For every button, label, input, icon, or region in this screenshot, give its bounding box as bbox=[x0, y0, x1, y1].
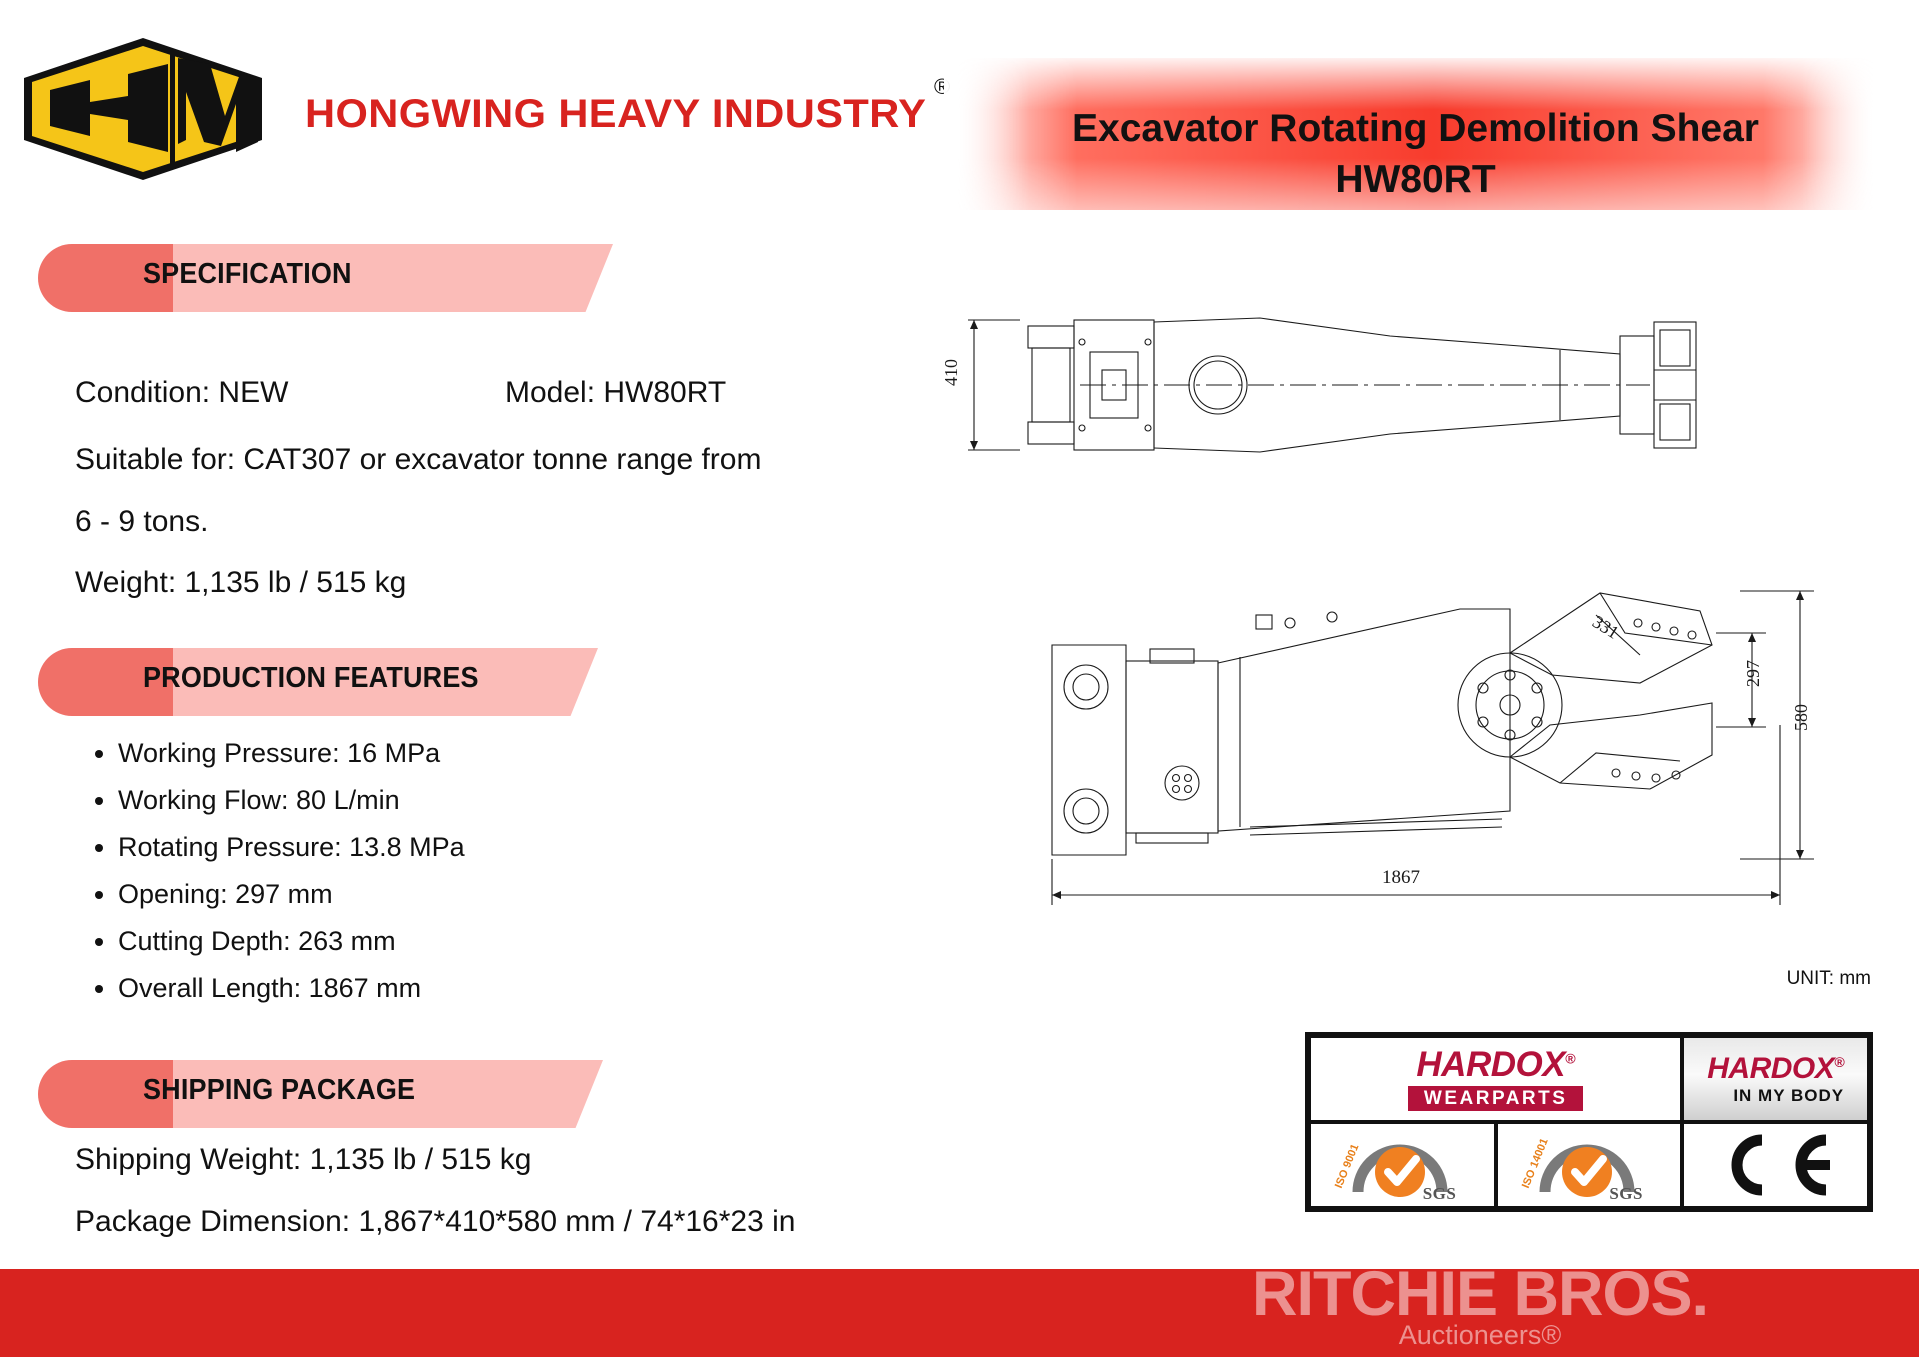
watermark-main: RITCHIE BROS. bbox=[1200, 1265, 1760, 1325]
registered-trademark-icon: ® bbox=[934, 74, 950, 100]
unit-note: UNIT: mm bbox=[1787, 968, 1871, 990]
certification-badge-grid: HARDOX® WEARPARTS HARDOX® IN MY BODY I bbox=[1305, 1032, 1873, 1212]
sgs-label: SGS bbox=[1609, 1184, 1643, 1204]
dimension-label-580: 580 bbox=[1791, 704, 1812, 731]
hardox-wearparts-badge: HARDOX® WEARPARTS bbox=[1309, 1036, 1682, 1122]
specification-heading: SPECIFICATION bbox=[143, 258, 352, 291]
company-name: HONGWING HEAVY INDUSTRY bbox=[305, 92, 926, 137]
ce-mark-badge bbox=[1682, 1122, 1869, 1208]
product-spec-sheet: HONGWING HEAVY INDUSTRY ® Excavator Rota… bbox=[0, 0, 1919, 1357]
hardox-wearparts-wordmark: HARDOX® bbox=[1416, 1047, 1575, 1082]
production-features-list: Working Pressure: 16 MPa Working Flow: 8… bbox=[90, 730, 465, 1012]
spec-condition: Condition: NEW bbox=[75, 376, 288, 410]
ritchie-bros-watermark: RITCHIE BROS. Auctioneers® bbox=[1200, 1265, 1760, 1351]
product-title: Excavator Rotating Demolition Shear HW80… bbox=[958, 104, 1873, 205]
technical-drawing-side-view: 331 297 580 1867 bbox=[1040, 575, 1840, 935]
list-item: Working Pressure: 16 MPa bbox=[118, 730, 465, 777]
ce-mark-icon bbox=[1714, 1134, 1838, 1196]
production-features-heading: PRODUCTION FEATURES bbox=[143, 662, 479, 695]
hardox-in-my-body-subtitle: IN MY BODY bbox=[1733, 1087, 1844, 1104]
technical-drawing-plan-view: 410 bbox=[960, 300, 1760, 470]
spec-suitable-line2: 6 - 9 tons. bbox=[75, 505, 208, 539]
list-item: Working Flow: 80 L/min bbox=[118, 777, 465, 824]
sgs-iso14001-badge: ISO 14001 SGS bbox=[1496, 1122, 1683, 1208]
product-title-line2: HW80RT bbox=[958, 155, 1873, 206]
list-item: Cutting Depth: 263 mm bbox=[118, 918, 465, 965]
list-item: Overall Length: 1867 mm bbox=[118, 965, 465, 1012]
shipping-weight: Shipping Weight: 1,135 lb / 515 kg bbox=[75, 1143, 531, 1177]
list-item: Opening: 297 mm bbox=[118, 871, 465, 918]
dimension-label-297: 297 bbox=[1743, 660, 1764, 687]
hardox-in-my-body-wordmark: HARDOX® bbox=[1707, 1054, 1844, 1084]
spec-weight: Weight: 1,135 lb / 515 kg bbox=[75, 566, 406, 600]
sgs-label: SGS bbox=[1423, 1184, 1457, 1204]
shipping-package-heading: SHIPPING PACKAGE bbox=[143, 1074, 415, 1107]
dimension-label-1867: 1867 bbox=[1382, 867, 1420, 889]
package-dimension: Package Dimension: 1,867*410*580 mm / 74… bbox=[75, 1205, 795, 1239]
spec-suitable-line1: Suitable for: CAT307 or excavator tonne … bbox=[75, 443, 761, 477]
spec-model: Model: HW80RT bbox=[505, 376, 726, 410]
hardox-in-my-body-badge: HARDOX® IN MY BODY bbox=[1682, 1036, 1869, 1122]
dimension-label-410: 410 bbox=[941, 359, 962, 386]
hongwing-hw-logo-icon bbox=[18, 34, 268, 184]
list-item: Rotating Pressure: 13.8 MPa bbox=[118, 824, 465, 871]
hardox-wearparts-subtitle: WEARPARTS bbox=[1408, 1086, 1584, 1111]
sgs-iso9001-badge: ISO 9001 SGS bbox=[1309, 1122, 1496, 1208]
product-title-line1: Excavator Rotating Demolition Shear bbox=[1072, 107, 1759, 150]
